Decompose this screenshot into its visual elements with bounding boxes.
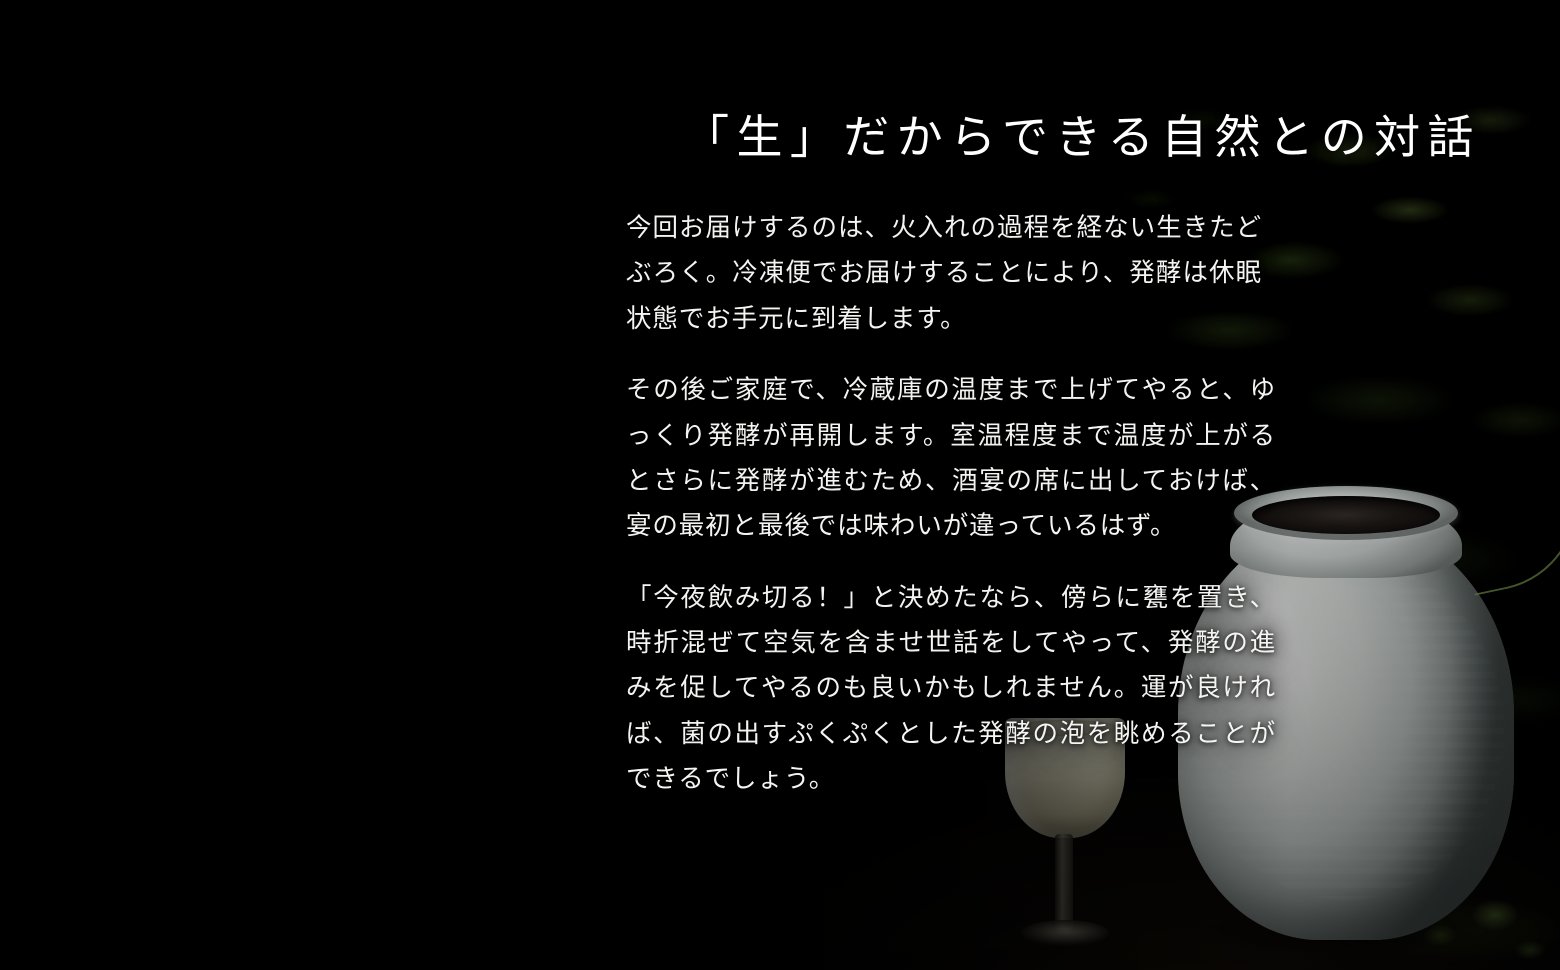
body-paragraph-3: 「今夜飲み切る！」と決めたなら、傍らに甕を置き、時折混ぜて空気を含ませ世話をして… [626,575,1276,802]
page-title: 「生」だからできる自然との対話 [610,109,1554,167]
content-area: 「生」だからできる自然との対話 今回お届けするのは、火入れの過程を経ない生きたど… [600,0,1560,970]
body-paragraph-2: その後ご家庭で、冷蔵庫の温度まで上げてやると、ゆっくり発酵が再開します。室温程度… [626,367,1276,549]
body-text-block: 今回お届けするのは、火入れの過程を経ない生きたどぶろく。冷凍便でお届けすることに… [626,205,1286,802]
page-root: 「生」だからできる自然との対話 今回お届けするのは、火入れの過程を経ない生きたど… [0,0,1560,970]
body-paragraph-1: 今回お届けするのは、火入れの過程を経ない生きたどぶろく。冷凍便でお届けすることに… [626,205,1262,341]
left-black-panel [0,0,592,970]
